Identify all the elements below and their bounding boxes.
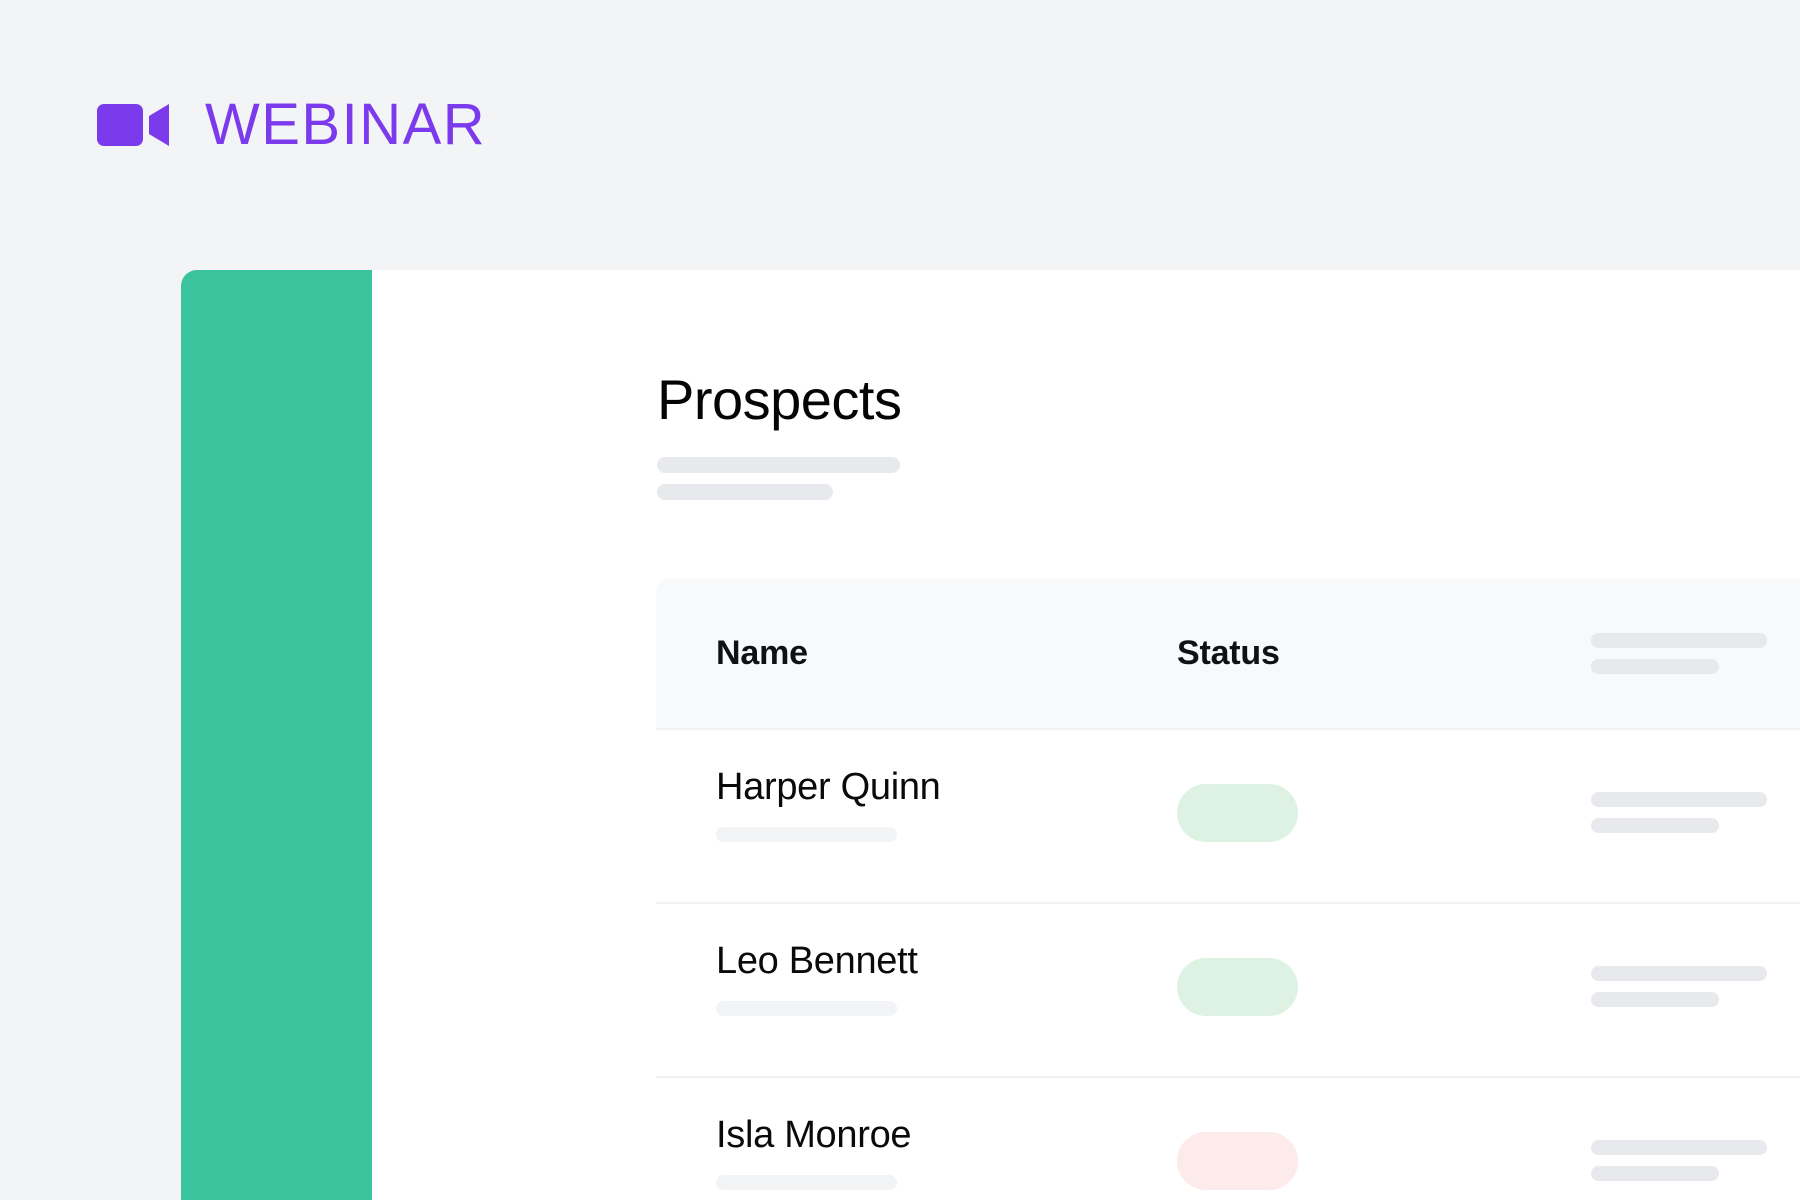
cell-status (1177, 958, 1298, 1016)
placeholder-bar (716, 827, 897, 842)
sidebar-rail (181, 270, 372, 1200)
placeholder-bar (1591, 966, 1767, 981)
table-header-row: Name Status (656, 578, 1800, 728)
placeholder-bar (716, 1001, 897, 1016)
cell-status (1177, 1132, 1298, 1190)
video-camera-icon (97, 102, 169, 148)
placeholder-bar (1591, 818, 1719, 833)
table-row[interactable]: Harper Quinn (656, 728, 1800, 902)
webinar-banner: WEBINAR (0, 0, 1800, 270)
placeholder-bar (1591, 659, 1719, 674)
status-badge[interactable] (1177, 958, 1298, 1016)
banner-content: WEBINAR (97, 96, 486, 154)
placeholder-bar (716, 1175, 897, 1190)
page-subtitle-placeholder (657, 457, 902, 500)
banner-title: WEBINAR (205, 96, 486, 154)
placeholder-bar (1591, 1140, 1767, 1155)
placeholder-bar (1591, 992, 1719, 1007)
app-card: Prospects Name Status (181, 270, 1800, 1200)
prospects-table: Name Status Harper Quinn (656, 578, 1800, 1200)
main-content: Prospects Name Status (372, 270, 1800, 1200)
placeholder-bar (1591, 792, 1767, 807)
page-root: WEBINAR Prospects Name Status (0, 0, 1800, 1200)
status-badge[interactable] (1177, 1132, 1298, 1190)
cell-name: Harper Quinn (716, 766, 941, 842)
page-title: Prospects (657, 370, 902, 430)
column-header-name[interactable]: Name (716, 634, 808, 673)
cell-status (1177, 784, 1298, 842)
cell-placeholder (1591, 966, 1767, 1007)
table-row[interactable]: Leo Bennett (656, 902, 1800, 1076)
placeholder-bar (657, 484, 833, 500)
page-heading-block: Prospects (657, 370, 902, 500)
cell-name: Isla Monroe (716, 1114, 911, 1190)
cell-placeholder (1591, 1140, 1767, 1181)
cell-placeholder (1591, 792, 1767, 833)
placeholder-bar (657, 457, 900, 473)
column-header-status[interactable]: Status (1177, 634, 1280, 673)
prospect-name: Harper Quinn (716, 766, 941, 808)
placeholder-bar (1591, 1166, 1719, 1181)
column-header-placeholder (1591, 633, 1767, 674)
table-row[interactable]: Isla Monroe (656, 1076, 1800, 1200)
prospect-name: Leo Bennett (716, 940, 918, 982)
cell-name: Leo Bennett (716, 940, 918, 1016)
status-badge[interactable] (1177, 784, 1298, 842)
placeholder-bar (1591, 633, 1767, 648)
prospect-name: Isla Monroe (716, 1114, 911, 1156)
